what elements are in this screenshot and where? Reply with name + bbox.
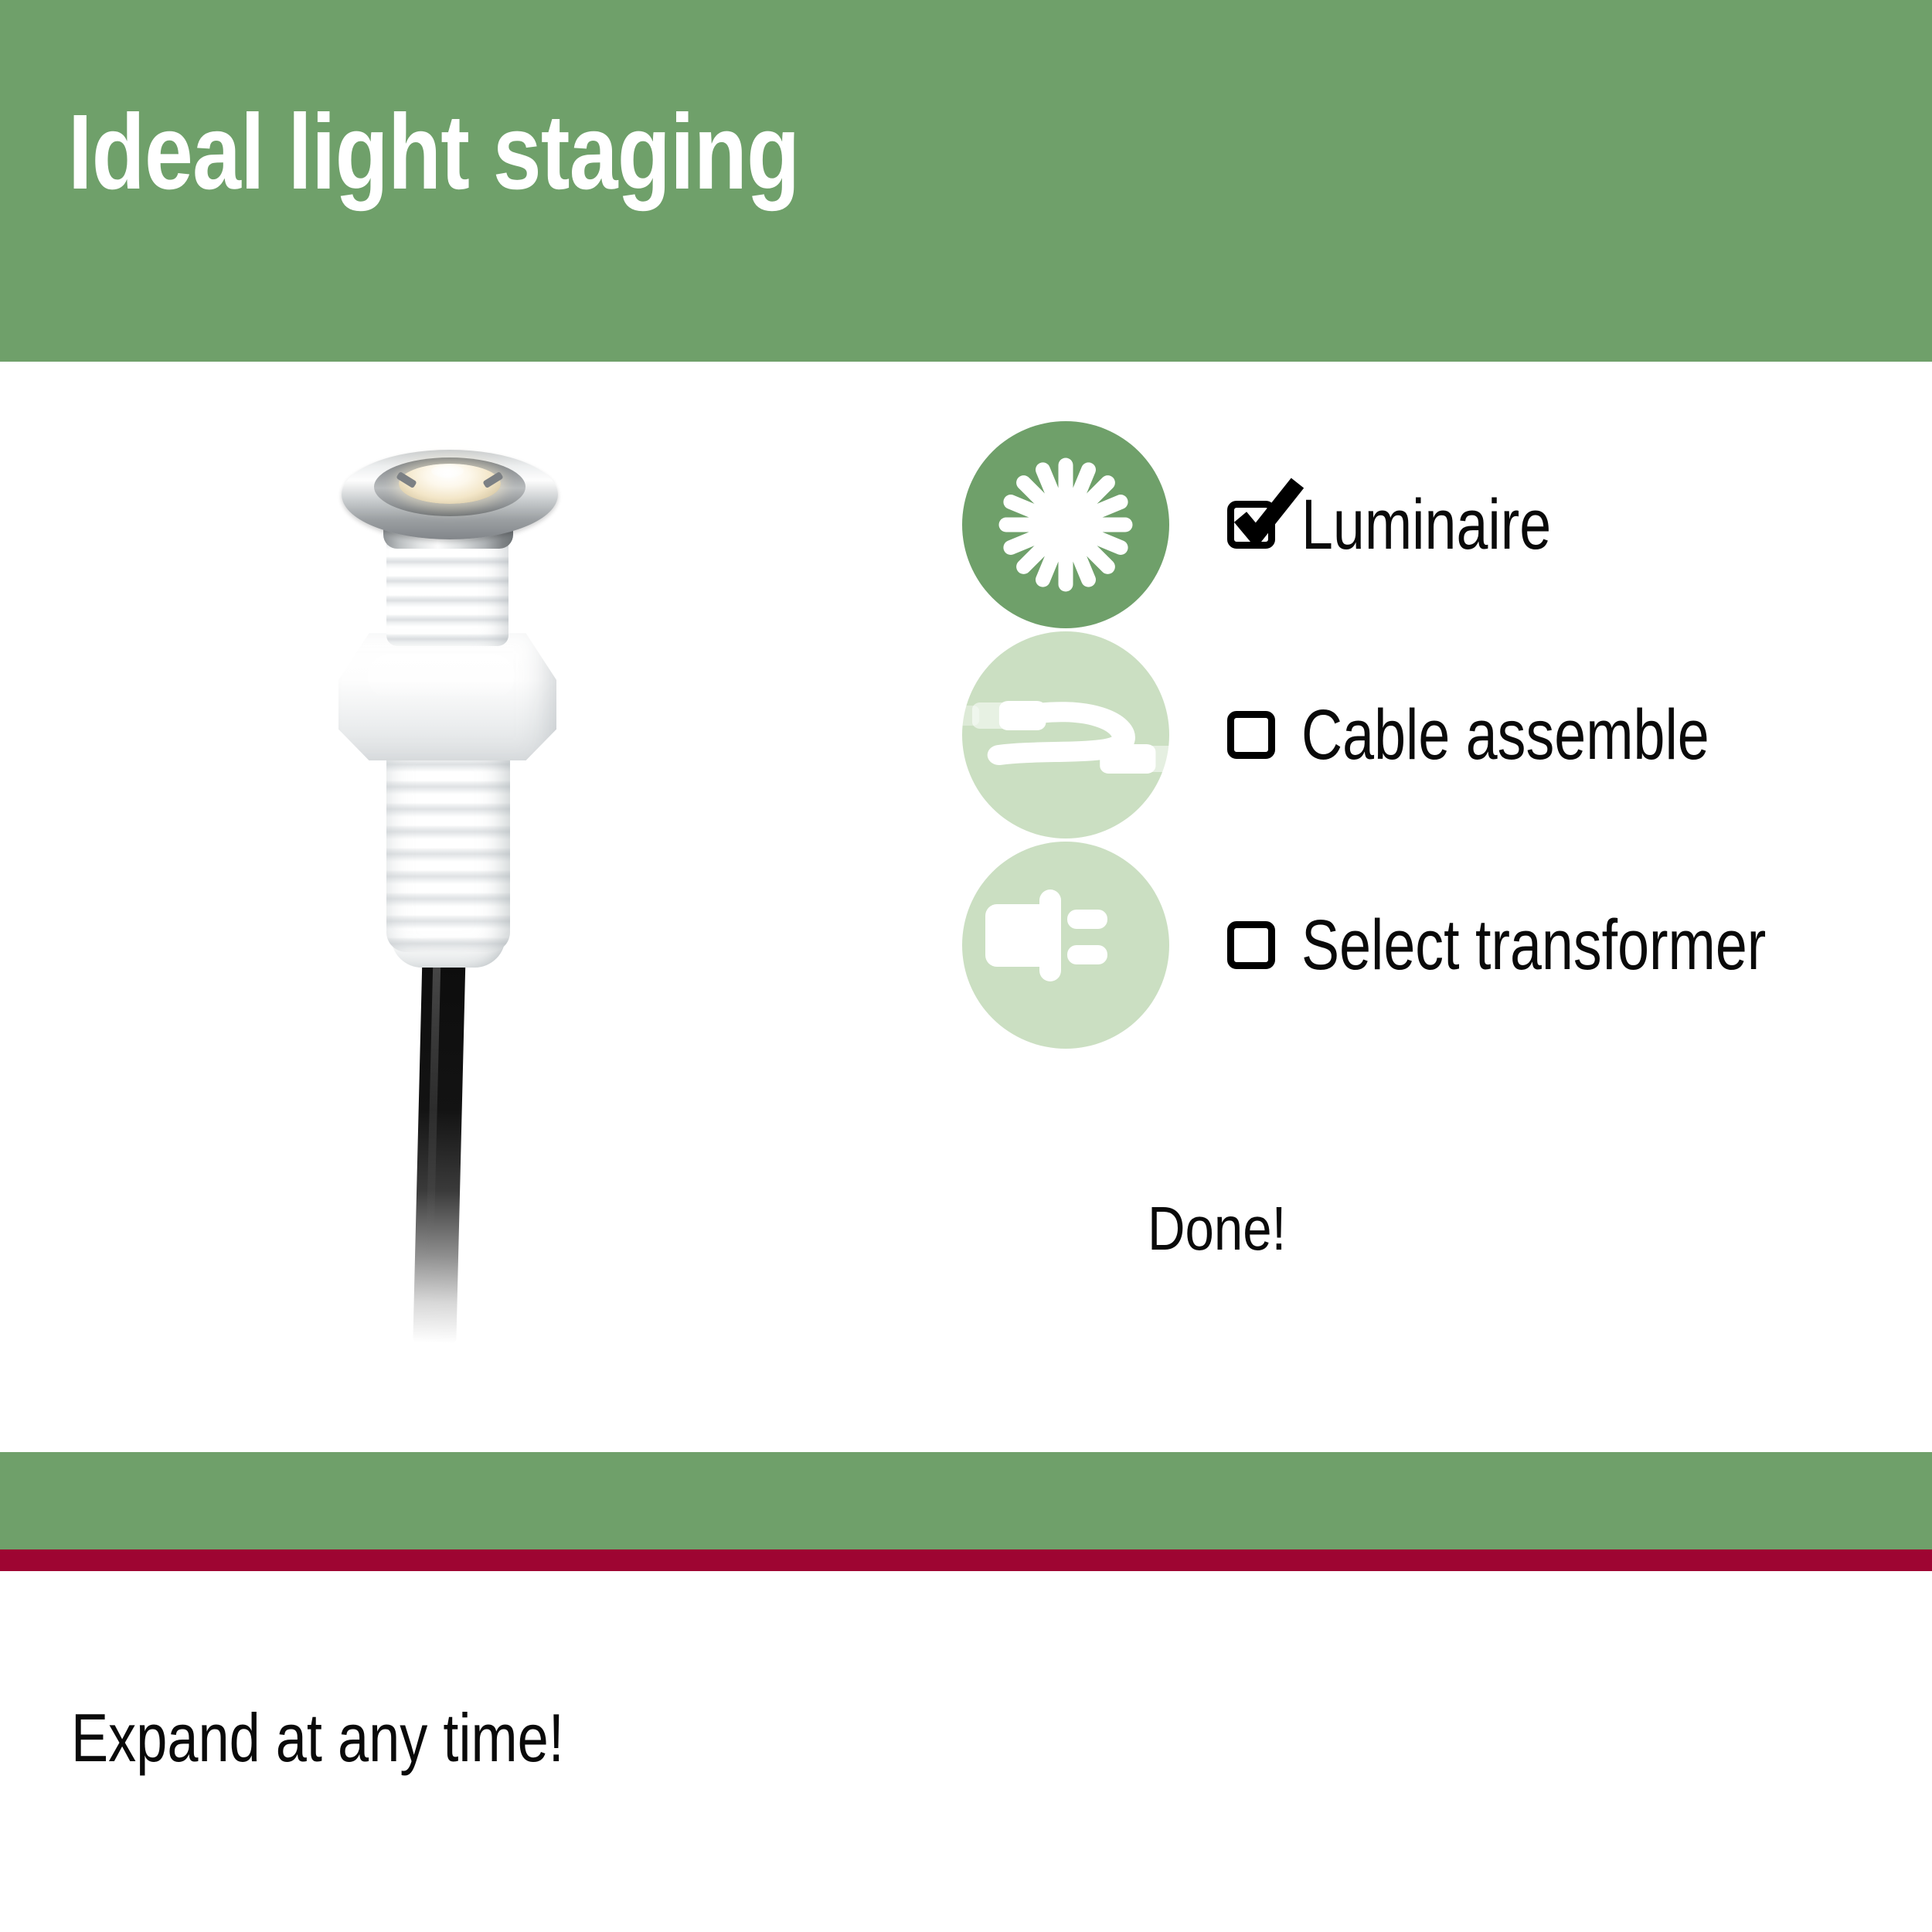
sun-icon xyxy=(962,421,1169,628)
checklist-item-select-transformer-label: Select transformer xyxy=(1301,910,1766,981)
sun-icon-badge xyxy=(962,421,1169,628)
checkbox-select-transformer[interactable] xyxy=(1227,921,1275,969)
cable-icon-badge xyxy=(962,631,1169,838)
header-band: Ideal light staging xyxy=(0,0,1932,362)
checklist-item-luminaire-label-group: Luminaire xyxy=(1227,489,1913,560)
done-text: Done! xyxy=(1148,1198,1286,1260)
product-hex-nut-highlight xyxy=(368,654,515,699)
product-cable xyxy=(413,940,466,1343)
footer-green-band xyxy=(0,1452,1932,1549)
main-content: Luminaire xyxy=(0,362,1932,1452)
cable-icon xyxy=(945,631,1186,838)
checklist-item-transformer-label-group: Select transformer xyxy=(1227,910,1913,981)
checklist: Luminaire xyxy=(962,420,1913,1050)
checkmark-icon xyxy=(1230,477,1304,551)
checklist-item-select-transformer[interactable]: Select transformer xyxy=(962,840,1913,1050)
product-lower-thread xyxy=(386,750,510,952)
checklist-item-cable-label-group: Cable assemble xyxy=(1227,699,1913,770)
product-image xyxy=(294,447,618,1343)
checklist-item-cable-assemble[interactable]: Cable assemble xyxy=(962,630,1913,840)
plug-icon xyxy=(962,842,1169,1049)
plug-icon-badge xyxy=(962,842,1169,1049)
checklist-item-luminaire[interactable]: Luminaire xyxy=(962,420,1913,630)
checkbox-luminaire[interactable] xyxy=(1227,501,1275,549)
checklist-item-cable-assemble-label: Cable assemble xyxy=(1301,699,1709,770)
footer-text: Expand at any time! xyxy=(71,1704,564,1772)
checkbox-cable-assemble[interactable] xyxy=(1227,711,1275,759)
page-title: Ideal light staging xyxy=(68,99,799,206)
footer-red-band xyxy=(0,1549,1932,1571)
cable-highlight xyxy=(427,941,441,1231)
footer-area: Expand at any time! xyxy=(0,1571,1932,1932)
checklist-item-luminaire-label: Luminaire xyxy=(1301,489,1551,560)
product-lens-highlight xyxy=(431,464,464,478)
